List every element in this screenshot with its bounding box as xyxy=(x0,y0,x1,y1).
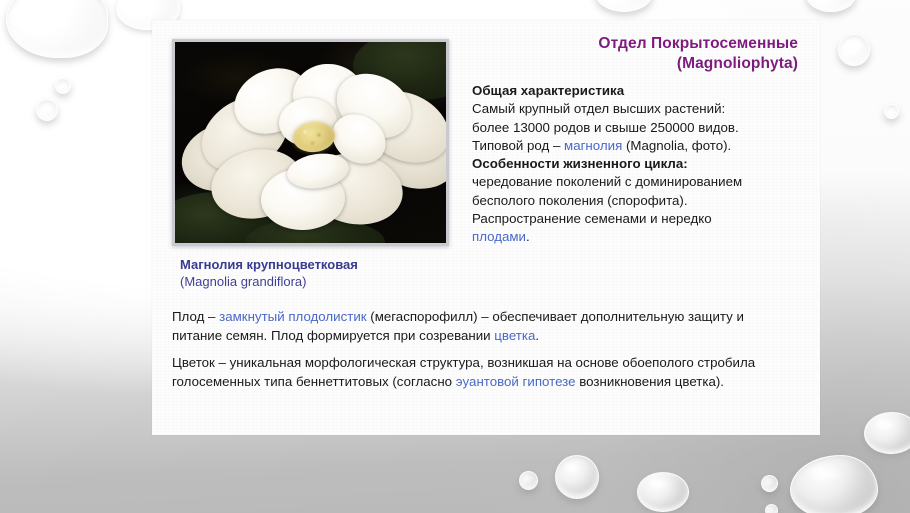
general-characteristics-block: Общая характеристика Самый крупный отдел… xyxy=(472,82,812,247)
photo-caption: Магнолия крупноцветковая (Magnolia grand… xyxy=(180,256,358,290)
characteristics-line-6: Распространение семенами и нередко xyxy=(472,210,812,228)
water-droplet-icon xyxy=(864,412,910,454)
typical-genus-prefix: Типовой род – xyxy=(472,138,564,153)
content-panel: Отдел Покрытосеменные (Magnoliophyta) xyxy=(152,20,820,435)
link-tsvetka[interactable]: цветка xyxy=(494,328,535,343)
characteristics-line-2: более 13000 родов и свыше 250000 видов. xyxy=(472,119,812,137)
water-droplet-icon xyxy=(519,471,538,490)
water-droplet-icon xyxy=(838,34,870,66)
link-plodami[interactable]: плодами xyxy=(472,229,526,244)
page-title-line-1: Отдел Покрытосеменные xyxy=(458,34,798,54)
fruit-seg-1: Плод – xyxy=(172,309,219,324)
water-droplet-icon xyxy=(555,455,599,499)
caption-latin-name: (Magnolia grandiflora) xyxy=(180,273,358,290)
link-zamknutyy-plodolistik[interactable]: замкнутый плодолистик xyxy=(219,309,366,324)
caption-russian-name: Магнолия крупноцветковая xyxy=(180,256,358,273)
water-droplet-icon xyxy=(637,472,689,512)
flower-seg-2: возникновения цветка). xyxy=(576,374,724,389)
link-euantovoy-gipoteze[interactable]: эуантовой гипотезе xyxy=(456,374,576,389)
presentation-slide: Отдел Покрытосеменные (Magnoliophyta) xyxy=(0,0,910,513)
characteristics-line-7: плодами. xyxy=(472,228,812,246)
characteristics-heading: Общая характеристика xyxy=(472,82,812,100)
link-magnolia[interactable]: магнолия xyxy=(564,138,622,153)
typical-genus-suffix: (Magnolia, фото). xyxy=(622,138,731,153)
magnolia-photo xyxy=(175,42,446,243)
characteristics-line-3: Типовой род – магнолия (Magnolia, фото). xyxy=(472,137,812,155)
fruit-seg-3: . xyxy=(535,328,539,343)
page-title-line-2: (Magnoliophyta) xyxy=(458,54,798,74)
body-text-block: Плод – замкнутый плодолистик (мегаспороф… xyxy=(172,308,792,392)
characteristics-line-1: Самый крупный отдел высших растений: xyxy=(472,100,812,118)
water-droplet-icon xyxy=(761,475,778,492)
paragraph-flower: Цветок – уникальная морфологическая стру… xyxy=(172,354,792,392)
page-title: Отдел Покрытосеменные (Magnoliophyta) xyxy=(458,34,798,74)
water-droplet-icon xyxy=(36,99,58,121)
characteristics-line-5: бесполого поколения (спорофита). xyxy=(472,192,812,210)
plodami-suffix: . xyxy=(526,229,530,244)
life-cycle-heading: Особенности жизненного цикла: xyxy=(472,155,812,173)
water-droplet-icon xyxy=(884,104,899,119)
water-droplet-icon xyxy=(765,504,778,513)
water-droplet-icon xyxy=(55,78,71,94)
paragraph-fruit: Плод – замкнутый плодолистик (мегаспороф… xyxy=(172,308,792,346)
characteristics-line-4: чередование поколений с доминированием xyxy=(472,173,812,191)
magnolia-photo-frame xyxy=(172,39,449,246)
